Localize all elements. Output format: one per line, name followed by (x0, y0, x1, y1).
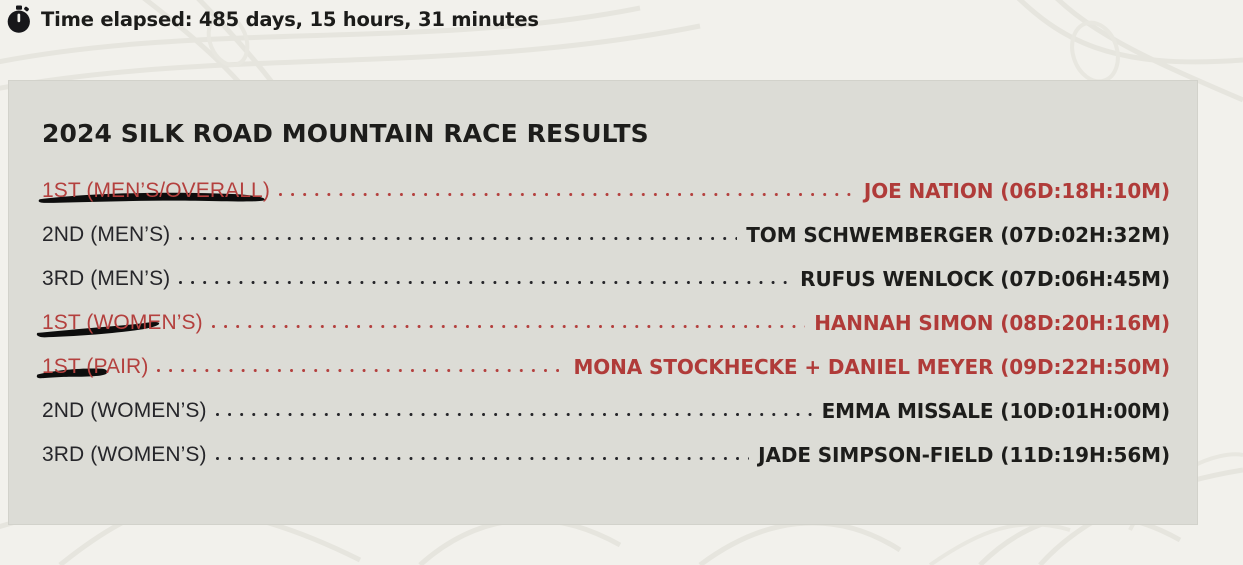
dotted-leader (179, 228, 737, 249)
result-row: 1ST (PAIR)MONA STOCKHECKE + DANIEL MEYER… (42, 345, 1170, 389)
result-place-label: 2ND (MEN’S) (42, 223, 170, 247)
result-place-label: 1ST (PAIR) (42, 355, 148, 379)
elapsed-time-label: Time elapsed: 485 days, 15 hours, 31 min… (41, 8, 539, 31)
dotted-leader (179, 272, 791, 293)
result-rider-name: MONA STOCKHECKE + DANIEL MEYER (09D:22H:… (573, 355, 1170, 379)
dotted-leader (216, 404, 813, 425)
results-list: 1ST (MEN’S/OVERALL)JOE NATION (06D:18H:1… (42, 169, 1170, 477)
result-place-label: 3RD (MEN’S) (42, 267, 170, 291)
dotted-leader (279, 184, 855, 205)
result-place-label: 1ST (WOMEN’S) (42, 311, 203, 335)
result-row: 1ST (WOMEN’S)HANNAH SIMON (08D:20H:16M) (42, 301, 1170, 345)
result-place-label: 2ND (WOMEN’S) (42, 399, 207, 423)
elapsed-time-bar: Time elapsed: 485 days, 15 hours, 31 min… (0, 0, 539, 38)
result-rider-name: JADE SIMPSON-FIELD (11D:19H:56M) (758, 443, 1170, 467)
result-rider-name: TOM SCHWEMBERGER (07D:02H:32M) (746, 223, 1170, 247)
result-rider-name: RUFUS WENLOCK (07D:06H:45M) (800, 267, 1170, 291)
dotted-leader (157, 360, 564, 381)
stopwatch-icon (6, 5, 32, 33)
dotted-leader (212, 316, 806, 337)
result-row: 3RD (MEN’S)RUFUS WENLOCK (07D:06H:45M) (42, 257, 1170, 301)
result-rider-name: EMMA MISSALE (10D:01H:00M) (822, 399, 1170, 423)
result-row: 2ND (MEN’S)TOM SCHWEMBERGER (07D:02H:32M… (42, 213, 1170, 257)
result-row: 2ND (WOMEN’S)EMMA MISSALE (10D:01H:00M) (42, 389, 1170, 433)
result-row: 3RD (WOMEN’S)JADE SIMPSON-FIELD (11D:19H… (42, 433, 1170, 477)
result-place-label: 3RD (WOMEN’S) (42, 443, 207, 467)
result-rider-name: HANNAH SIMON (08D:20H:16M) (814, 311, 1170, 335)
race-results-card: 2024 SILK ROAD MOUNTAIN RACE RESULTS 1ST… (8, 80, 1198, 525)
result-rider-name: JOE NATION (06D:18H:10M) (864, 179, 1170, 203)
results-title: 2024 SILK ROAD MOUNTAIN RACE RESULTS (42, 119, 649, 148)
result-row: 1ST (MEN’S/OVERALL)JOE NATION (06D:18H:1… (42, 169, 1170, 213)
dotted-leader (216, 448, 749, 469)
result-place-label: 1ST (MEN’S/OVERALL) (42, 179, 270, 203)
